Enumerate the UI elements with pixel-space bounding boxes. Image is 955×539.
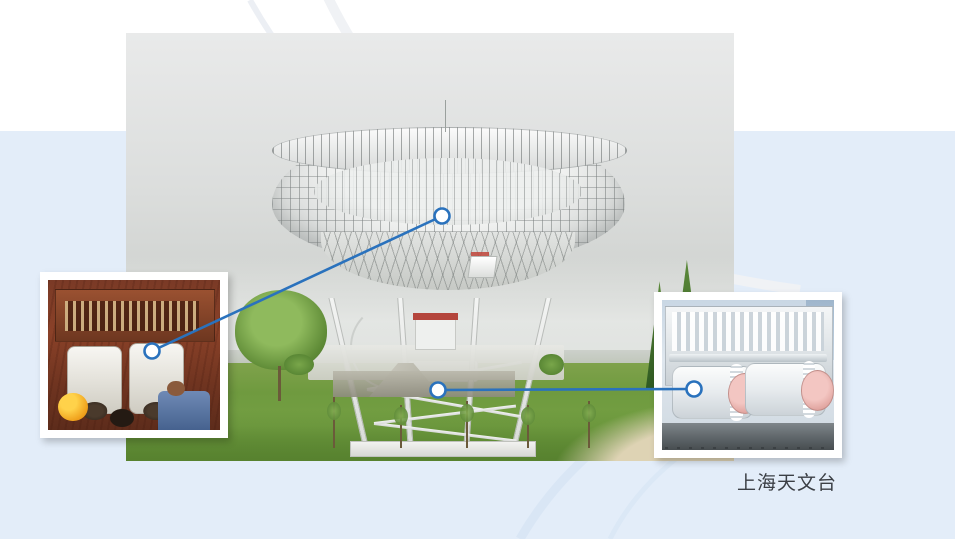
photo-tree <box>235 290 326 401</box>
inset-right-pink-endcap <box>801 370 835 411</box>
photo-feed-mast <box>445 100 446 131</box>
inset-left-image <box>48 280 220 430</box>
inset-right-rail <box>669 354 827 362</box>
inset-left-dark-object <box>110 409 134 427</box>
inset-photo-right <box>654 292 842 458</box>
photo-tree-trunk <box>278 366 281 402</box>
photo-dish-inner-surface <box>314 158 582 225</box>
photo-tower-brace <box>374 422 516 442</box>
photo-sapling <box>588 401 590 448</box>
caption-observatory-name: 上海天文台 <box>737 468 837 495</box>
photo-shrub <box>539 354 563 375</box>
inset-right-bolt-row <box>665 447 830 449</box>
photo-dish-backing-truss <box>321 232 575 290</box>
photo-sapling <box>400 405 402 448</box>
inset-right-fin-array <box>672 312 823 351</box>
photo-sapling <box>527 405 529 448</box>
inset-right-drum <box>745 363 826 416</box>
photo-tower-base-ring <box>350 441 536 457</box>
photo-sapling <box>466 401 468 448</box>
inset-left-yellow-ball <box>58 393 87 422</box>
photo-tree-crown <box>235 290 326 370</box>
inset-photo-left <box>40 272 228 438</box>
photo-sapling <box>333 397 335 448</box>
photo-receiver-cabin <box>468 256 498 278</box>
inset-left-worker <box>158 391 210 430</box>
inset-left-slot-array <box>65 301 199 331</box>
inset-right-plinth <box>662 423 834 450</box>
slide-canvas: 上海天文台 <box>0 0 955 539</box>
inset-right-image <box>662 300 834 450</box>
photo-service-hut <box>415 318 457 350</box>
photo-pad-shadow <box>333 371 515 397</box>
inset-right-drum <box>672 366 753 419</box>
